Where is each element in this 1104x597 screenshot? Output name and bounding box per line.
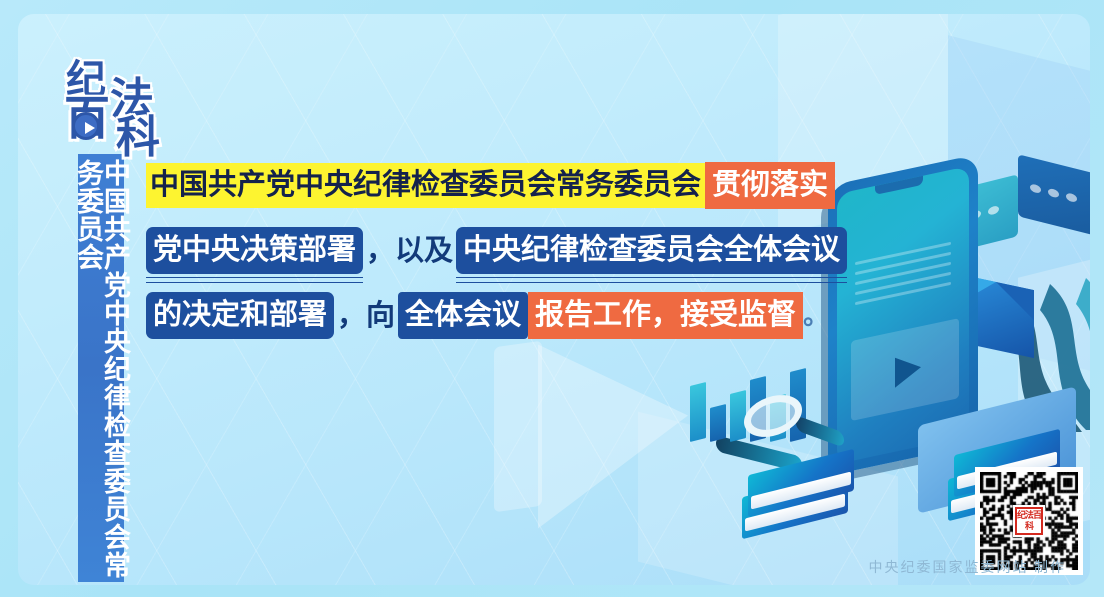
poster-canvas: 纪 法 百 科 中国共产党中央纪律检查委员会常务委员会 <box>0 0 1104 597</box>
headline-seg-period: 。 <box>803 296 829 336</box>
watermark-play-bar <box>494 341 542 513</box>
headline-line-1: 中国共产党中央纪律检查委员会常务委员会贯彻落实 <box>146 162 786 209</box>
qr-code-center-logo-text: 纪法百科 <box>1015 507 1043 535</box>
qr-code-center-logo: 纪法百科 <box>1013 505 1045 537</box>
play-icon <box>72 112 100 140</box>
vertical-title-text: 中国共产党中央纪律检查委员会常务委员会 <box>74 159 128 582</box>
vertical-title-banner: 中国共产党中央纪律检查委员会常务委员会 <box>78 154 124 582</box>
footer-credit: 中央纪委国家监委网站 制作 <box>869 557 1067 577</box>
headline-seg-plain-3: ，向 <box>334 296 398 336</box>
chat-bubble-tail <box>946 238 960 255</box>
headline-text-block: 中国共产党中央纪律检查委员会常务委员会贯彻落实 党中央决策部署，以及中央纪律检查… <box>146 162 786 357</box>
headline-seg-blue-3b: 全体会议 <box>398 292 528 339</box>
headline-seg-plain-2: ，以及 <box>363 231 456 271</box>
headline-line-2: 党中央决策部署，以及中央纪律检查委员会全体会议 <box>146 227 786 274</box>
qr-code-image: 纪法百科 <box>980 472 1078 570</box>
headline-seg-blue-2a: 党中央决策部署 <box>146 227 363 274</box>
bar-chart-icon <box>690 350 814 440</box>
chat-bubble-right-icon <box>1018 154 1090 235</box>
headline-seg-orange-3: 报告工作，接受监督 <box>528 292 803 339</box>
headline-seg-orange-1: 贯彻落实 <box>705 162 835 209</box>
headline-line-3: 的决定和部署，向全体会议报告工作，接受监督。 <box>146 292 786 339</box>
site-logo[interactable]: 纪 法 百 科 <box>64 60 178 170</box>
headline-seg-blue-2b: 中央纪律检查委员会全体会议 <box>456 227 847 274</box>
poster-inner-frame: 纪 法 百 科 中国共产党中央纪律检查委员会常务委员会 <box>18 14 1090 585</box>
logo-char-ke: 科 <box>116 116 160 160</box>
headline-seg-yellow-1: 中国共产党中央纪律检查委员会常务委员会 <box>146 163 705 208</box>
headline-seg-blue-3a: 的决定和部署 <box>146 292 334 339</box>
